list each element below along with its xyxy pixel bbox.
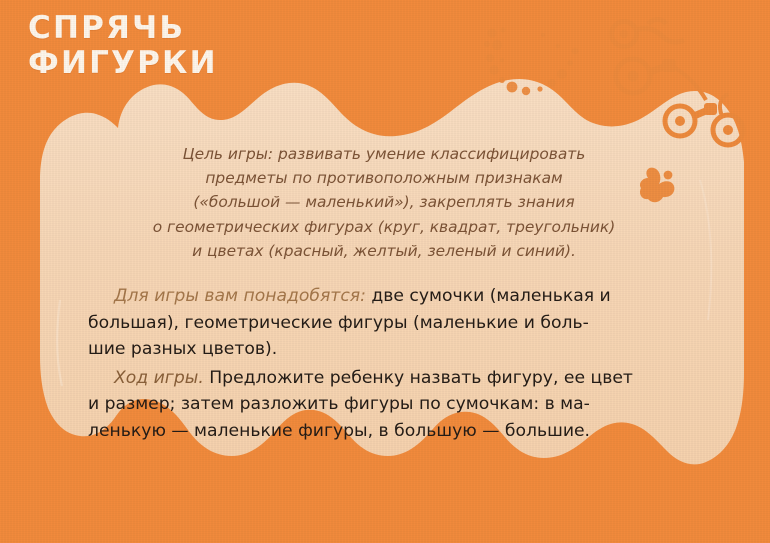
title-line-1: СПРЯЧЬ <box>28 14 218 44</box>
intro-line-4: о геометрических фигурах (круг, квадрат,… <box>128 215 640 239</box>
procedure-line-3: ленькую — маленькие фигуры, в большую — … <box>88 418 680 445</box>
butterfly-doodle <box>640 168 674 203</box>
game-card: СПРЯЧЬ ФИГУРКИ Цель игры: развивать умен… <box>0 0 770 543</box>
procedure-line-1: Предложите ребенку назвать фигуру, ее цв… <box>209 368 633 388</box>
intro-line-2: предметы по противоположным признакам <box>128 166 640 190</box>
body-paragraphs: Для игры вам понадобятся: две сумочки (м… <box>88 283 680 445</box>
materials-paragraph: Для игры вам понадобятся: две сумочки (м… <box>88 283 680 363</box>
procedure-lede: Ход игры. <box>114 368 204 388</box>
intro-line-1: Цель игры: развивать умение классифициро… <box>128 142 640 166</box>
rattle-rings-doodle <box>612 20 744 146</box>
procedure-first-line: Ход игры. Предложите ребенку назвать фиг… <box>88 365 680 392</box>
procedure-paragraph: Ход игры. Предложите ребенку назвать фиг… <box>88 365 680 445</box>
procedure-line-2: и размер; затем разложить фигуры по сумо… <box>88 391 680 418</box>
bead-arc-doodle <box>484 27 578 95</box>
materials-line-3: шие разных цветов). <box>88 336 680 363</box>
materials-first-line: Для игры вам понадобятся: две сумочки (м… <box>88 283 680 310</box>
card-title: СПРЯЧЬ ФИГУРКИ <box>28 14 218 79</box>
materials-line-2: большая), геометрические фигуры (маленьк… <box>88 310 680 337</box>
materials-lede: Для игры вам понадобятся: <box>114 286 366 306</box>
intro-paragraph: Цель игры: развивать умение классифициро… <box>128 142 640 263</box>
intro-line-3: («большой — маленький»), закреплять знан… <box>128 190 640 214</box>
title-line-2: ФИГУРКИ <box>28 49 218 79</box>
materials-line-1: две сумочки (маленькая и <box>371 286 610 306</box>
intro-line-5: и цветах (красный, желтый, зеленый и син… <box>128 239 640 263</box>
decorative-doodles <box>0 0 770 543</box>
